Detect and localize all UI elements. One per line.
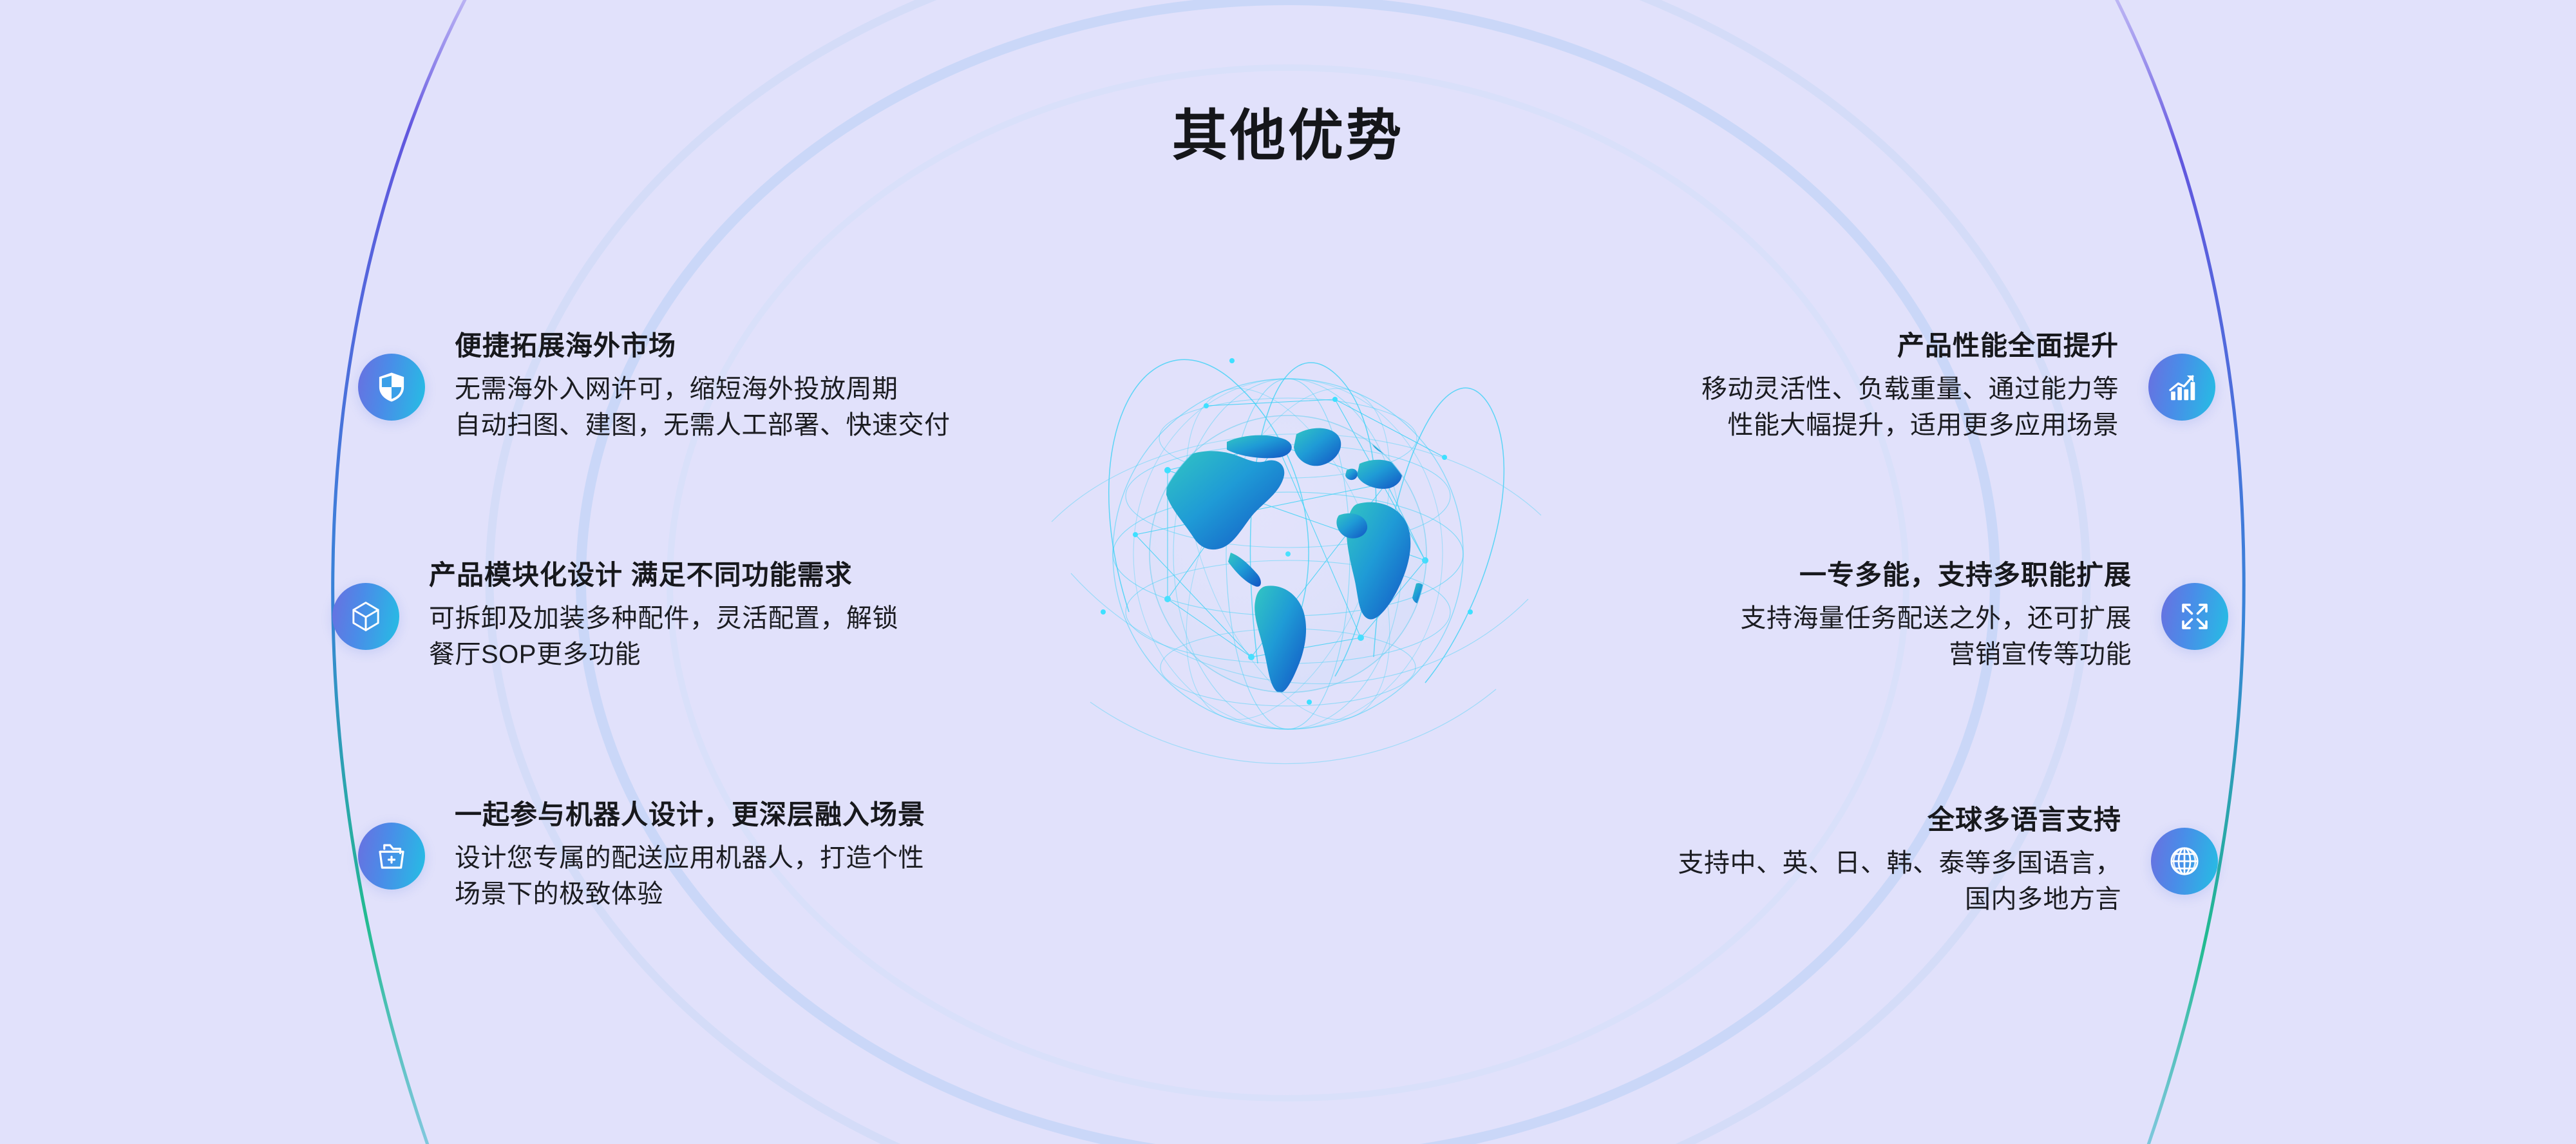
folder-plus-icon — [358, 823, 425, 890]
page-title: 其他优势 — [0, 108, 2576, 164]
feature-title: 产品模块化设计 满足不同功能需求 — [429, 559, 898, 591]
feature-item-left-2[interactable]: 产品模块化设计 满足不同功能需求 可拆卸及加装多种配件，灵活配置，解锁 餐厅SO… — [332, 559, 898, 673]
feature-item-right-3[interactable]: 全球多语言支持 支持中、英、日、韩、泰等多国语言， 国内多地方言 — [1678, 804, 2219, 918]
feature-line: 性能大幅提升，适用更多应用场景 — [1701, 407, 2119, 444]
feature-line: 支持海量任务配送之外，还可扩展 — [1741, 600, 2132, 637]
feature-line: 无需海外入网许可，缩短海外投放周期 — [455, 371, 951, 408]
feature-text: 全球多语言支持 支持中、英、日、韩、泰等多国语言， 国内多地方言 — [1678, 804, 2122, 918]
feature-line: 支持中、英、日、韩、泰等多国语言， — [1678, 845, 2122, 882]
feature-line: 移动灵活性、负载重量、通过能力等 — [1701, 371, 2119, 408]
feature-text: 便捷拓展海外市场 无需海外入网许可，缩短海外投放周期 自动扫图、建图，无需人工部… — [455, 330, 951, 444]
feature-text: 一专多能，支持多职能扩展 支持海量任务配送之外，还可扩展 营销宣传等功能 — [1741, 559, 2132, 673]
feature-title: 产品性能全面提升 — [1701, 330, 2119, 362]
feature-text: 产品模块化设计 满足不同功能需求 可拆卸及加装多种配件，灵活配置，解锁 餐厅SO… — [429, 559, 898, 673]
feature-title: 一专多能，支持多职能扩展 — [1741, 559, 2132, 591]
shield-icon — [358, 354, 425, 421]
globe-network-illustration — [974, 213, 1602, 882]
infographic-canvas: 其他优势 — [0, 0, 2576, 1144]
feature-line: 设计您专属的配送应用机器人，打造个性 — [455, 840, 925, 877]
feature-item-left-3[interactable]: 一起参与机器人设计，更深层融入场景 设计您专属的配送应用机器人，打造个性 场景下… — [358, 799, 925, 913]
feature-line: 餐厅SOP更多功能 — [429, 636, 898, 673]
chart-growth-icon — [2148, 354, 2215, 421]
feature-text: 一起参与机器人设计，更深层融入场景 设计您专属的配送应用机器人，打造个性 场景下… — [455, 799, 925, 913]
cube-icon — [332, 583, 399, 650]
feature-title: 一起参与机器人设计，更深层融入场景 — [455, 799, 925, 831]
feature-line: 营销宣传等功能 — [1741, 636, 2132, 673]
feature-line: 场景下的极致体验 — [455, 876, 925, 913]
expand-arrows-icon — [2161, 583, 2228, 650]
feature-item-right-2[interactable]: 一专多能，支持多职能扩展 支持海量任务配送之外，还可扩展 营销宣传等功能 — [1741, 559, 2229, 673]
feature-text: 产品性能全面提升 移动灵活性、负载重量、通过能力等 性能大幅提升，适用更多应用场… — [1701, 330, 2119, 444]
feature-title: 便捷拓展海外市场 — [455, 330, 951, 362]
globe-icon — [2151, 828, 2218, 895]
feature-line: 国内多地方言 — [1678, 881, 2122, 918]
feature-item-left-1[interactable]: 便捷拓展海外市场 无需海外入网许可，缩短海外投放周期 自动扫图、建图，无需人工部… — [358, 330, 951, 444]
feature-line: 自动扫图、建图，无需人工部署、快速交付 — [455, 407, 951, 444]
feature-line: 可拆卸及加装多种配件，灵活配置，解锁 — [429, 600, 898, 637]
feature-item-right-1[interactable]: 产品性能全面提升 移动灵活性、负载重量、通过能力等 性能大幅提升，适用更多应用场… — [1701, 330, 2215, 444]
earth-sphere — [1150, 415, 1426, 693]
feature-title: 全球多语言支持 — [1678, 804, 2122, 836]
